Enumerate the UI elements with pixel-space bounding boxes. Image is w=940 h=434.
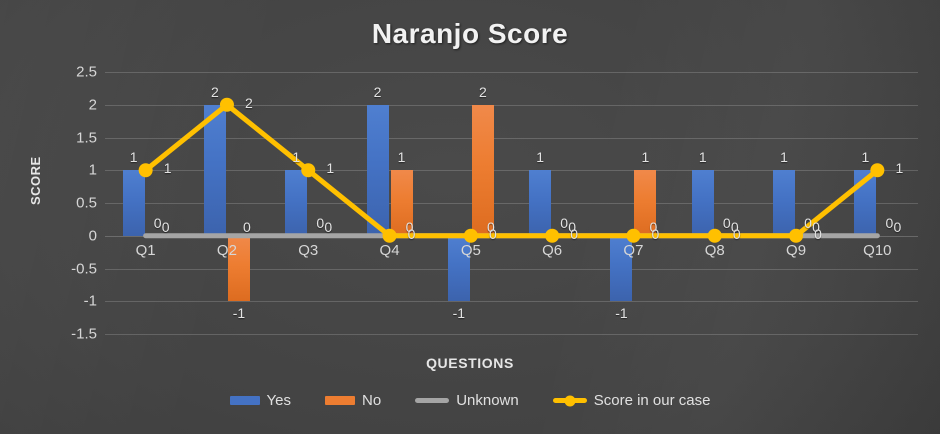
data-label-score-q9: 0 [814,226,822,242]
data-label-no-q6: 0 [560,215,568,231]
data-label-no-q4: 1 [398,149,406,165]
data-label-score-q7: 0 [652,226,660,242]
data-label-no-q10: 0 [885,215,893,231]
line-score-in-our-case [146,105,878,236]
line-series-group [105,72,918,334]
legend-item-no[interactable]: No [325,392,381,409]
x-axis-tick-label: Q8 [705,242,725,259]
legend-label: Score in our case [594,392,711,409]
data-label-unknown-q10: 0 [893,219,901,235]
gridline [105,334,918,335]
data-label-yes-q1: 1 [130,149,138,165]
data-label-no-q7: 1 [642,149,650,165]
legend-item-score-in-our-case[interactable]: Score in our case [553,392,711,409]
x-axis-tick-label: Q9 [786,242,806,259]
legend-swatch-bar [325,396,355,405]
data-label-score-q1: 1 [164,160,172,176]
x-axis-tick-label: Q4 [380,242,400,259]
data-label-score-q10: 1 [895,160,903,176]
data-label-score-q2: 2 [245,95,253,111]
data-label-no-q9: 0 [804,215,812,231]
data-label-yes-q2: 2 [211,84,219,100]
y-axis-tick-label: -0.5 [35,260,97,277]
y-axis-tick-label: 2.5 [35,64,97,81]
data-label-yes-q7: -1 [615,305,627,321]
data-label-yes-q10: 1 [861,149,869,165]
marker-score-q4 [383,229,397,243]
legend-item-unknown[interactable]: Unknown [415,392,519,409]
marker-score-q10 [870,163,884,177]
x-axis-tick-label: Q3 [298,242,318,259]
legend-marker-icon [564,395,575,406]
chart-legend: YesNoUnknownScore in our case [0,392,940,409]
x-axis-tick-label: Q2 [217,242,237,259]
y-axis-tick-label: 0 [35,227,97,244]
legend-label: Yes [267,392,291,409]
data-label-yes-q8: 1 [699,149,707,165]
x-axis-tick-label: Q7 [623,242,643,259]
marker-score-q2 [220,98,234,112]
chart-title: Naranjo Score [0,18,940,50]
data-label-no-q2: -1 [233,305,245,321]
y-axis-tick-label: 2 [35,96,97,113]
data-label-yes-q3: 1 [292,149,300,165]
data-label-unknown-q1: 0 [162,219,170,235]
data-label-score-q3: 1 [326,160,334,176]
marker-score-q1 [139,163,153,177]
data-label-score-q4: 0 [408,226,416,242]
x-axis-title: QUESTIONS [0,355,940,371]
y-axis-tick-label: 1.5 [35,129,97,146]
data-label-yes-q4: 2 [374,84,382,100]
y-axis-tick-label: -1.5 [35,326,97,343]
legend-label: Unknown [456,392,519,409]
legend-swatch-bar [230,396,260,405]
data-label-score-q5: 0 [489,226,497,242]
data-label-yes-q9: 1 [780,149,788,165]
chart-container: Naranjo Score SCORE QUESTIONS 2.521.510.… [0,0,940,434]
x-axis-tick-label: Q10 [863,242,891,259]
data-label-no-q3: 0 [316,215,324,231]
y-axis-tick-label: -1 [35,293,97,310]
marker-score-q5 [464,229,478,243]
data-label-no-q5: 2 [479,84,487,100]
x-axis-tick-label: Q5 [461,242,481,259]
x-axis-tick-label: Q6 [542,242,562,259]
y-axis-tick-label: 1 [35,162,97,179]
marker-score-q9 [789,229,803,243]
data-label-score-q8: 0 [733,226,741,242]
data-label-unknown-q3: 0 [324,219,332,235]
data-label-no-q8: 0 [723,215,731,231]
data-label-score-q6: 0 [570,226,578,242]
marker-score-q7 [626,229,640,243]
marker-score-q3 [301,163,315,177]
legend-swatch-line [415,398,449,403]
data-label-yes-q6: 1 [536,149,544,165]
legend-swatch-line [553,398,587,403]
x-axis-tick-label: Q1 [136,242,156,259]
data-label-unknown-q2: 0 [243,219,251,235]
marker-score-q6 [545,229,559,243]
plot-area: 10012-10210012100-12001000-1100100010001… [105,72,918,334]
legend-item-yes[interactable]: Yes [230,392,291,409]
data-label-no-q1: 0 [154,215,162,231]
y-axis-tick-label: 0.5 [35,195,97,212]
marker-score-q8 [708,229,722,243]
legend-label: No [362,392,381,409]
data-label-yes-q5: -1 [453,305,465,321]
